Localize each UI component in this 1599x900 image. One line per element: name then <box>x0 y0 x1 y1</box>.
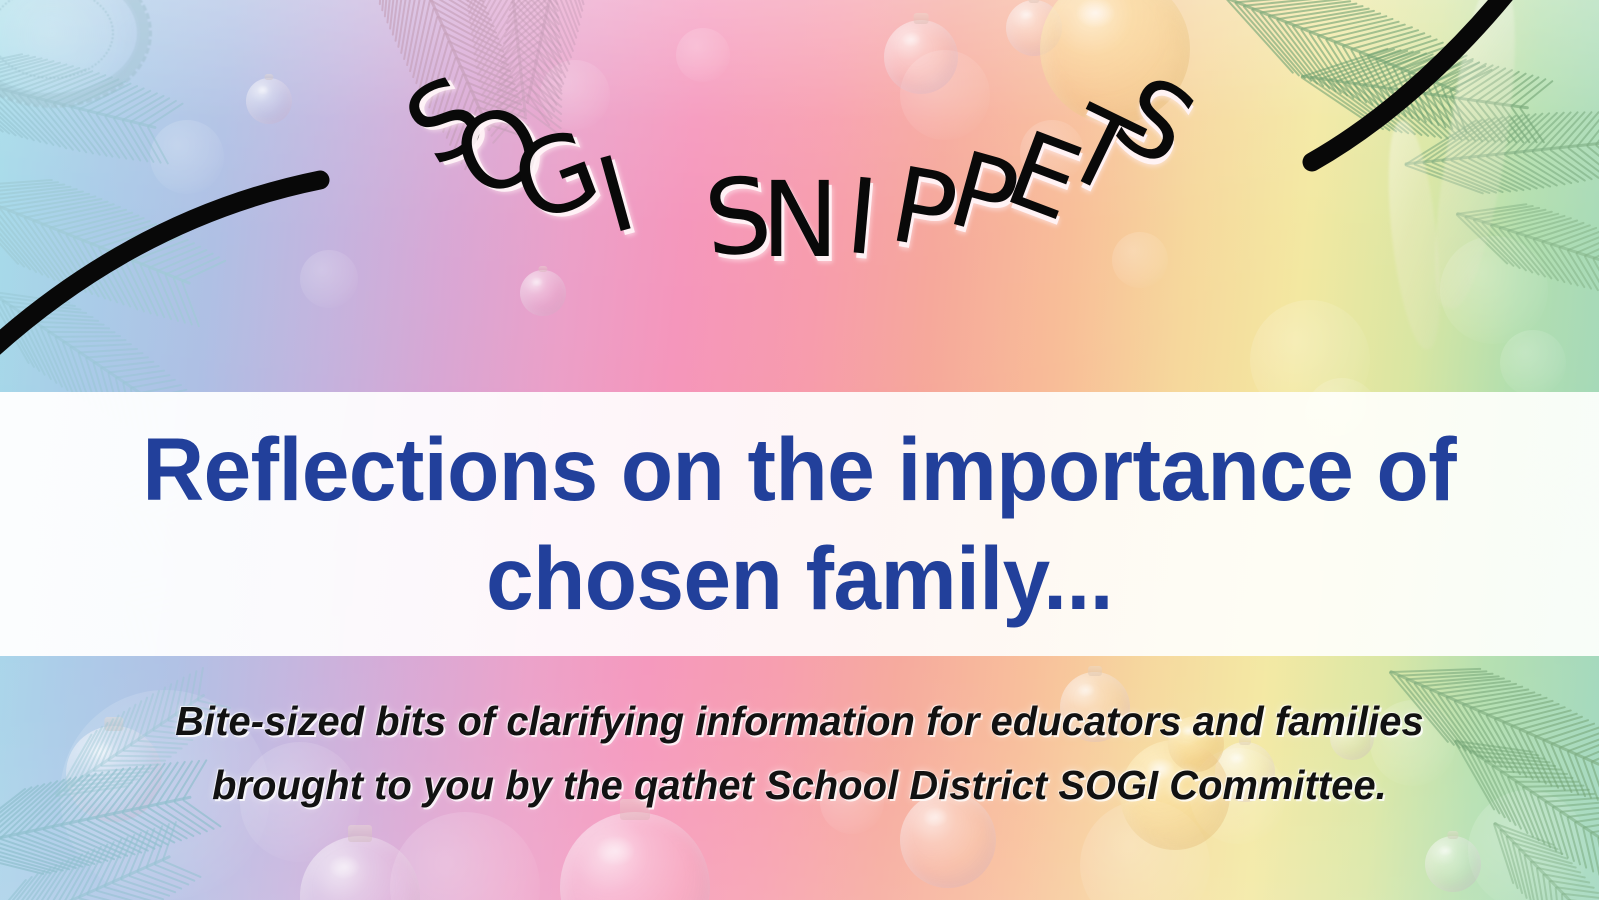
bauble-cap <box>1447 831 1458 839</box>
headline-text-block: Reflections on the importance of chosen … <box>0 392 1599 656</box>
glass-bauble <box>246 78 292 124</box>
lace-doily-inner-ring <box>0 0 114 79</box>
headline-line-2: chosen family... <box>486 532 1113 625</box>
headline-line-1: Reflections on the importance of <box>143 423 1457 516</box>
subtitle-block: Bite-sized bits of clarifying informatio… <box>0 690 1599 817</box>
bauble-cap <box>914 13 929 23</box>
bauble-cap <box>538 266 547 272</box>
subtitle-line-2: brought to you by the qathet School Dist… <box>24 754 1575 818</box>
bauble-cap <box>348 825 372 842</box>
bauble-cap <box>1088 666 1102 676</box>
subtitle-line-1: Bite-sized bits of clarifying informatio… <box>24 690 1575 754</box>
bauble-cap <box>1028 0 1039 3</box>
glass-bauble <box>884 20 958 94</box>
sogi-snippets-poster: SOGI SNIPPETS Reflections on the importa… <box>0 0 1599 900</box>
bauble-cap <box>264 74 273 80</box>
headline-white-band: Reflections on the importance of chosen … <box>0 392 1599 656</box>
glass-bauble <box>1425 836 1481 892</box>
glass-bauble <box>520 270 566 316</box>
